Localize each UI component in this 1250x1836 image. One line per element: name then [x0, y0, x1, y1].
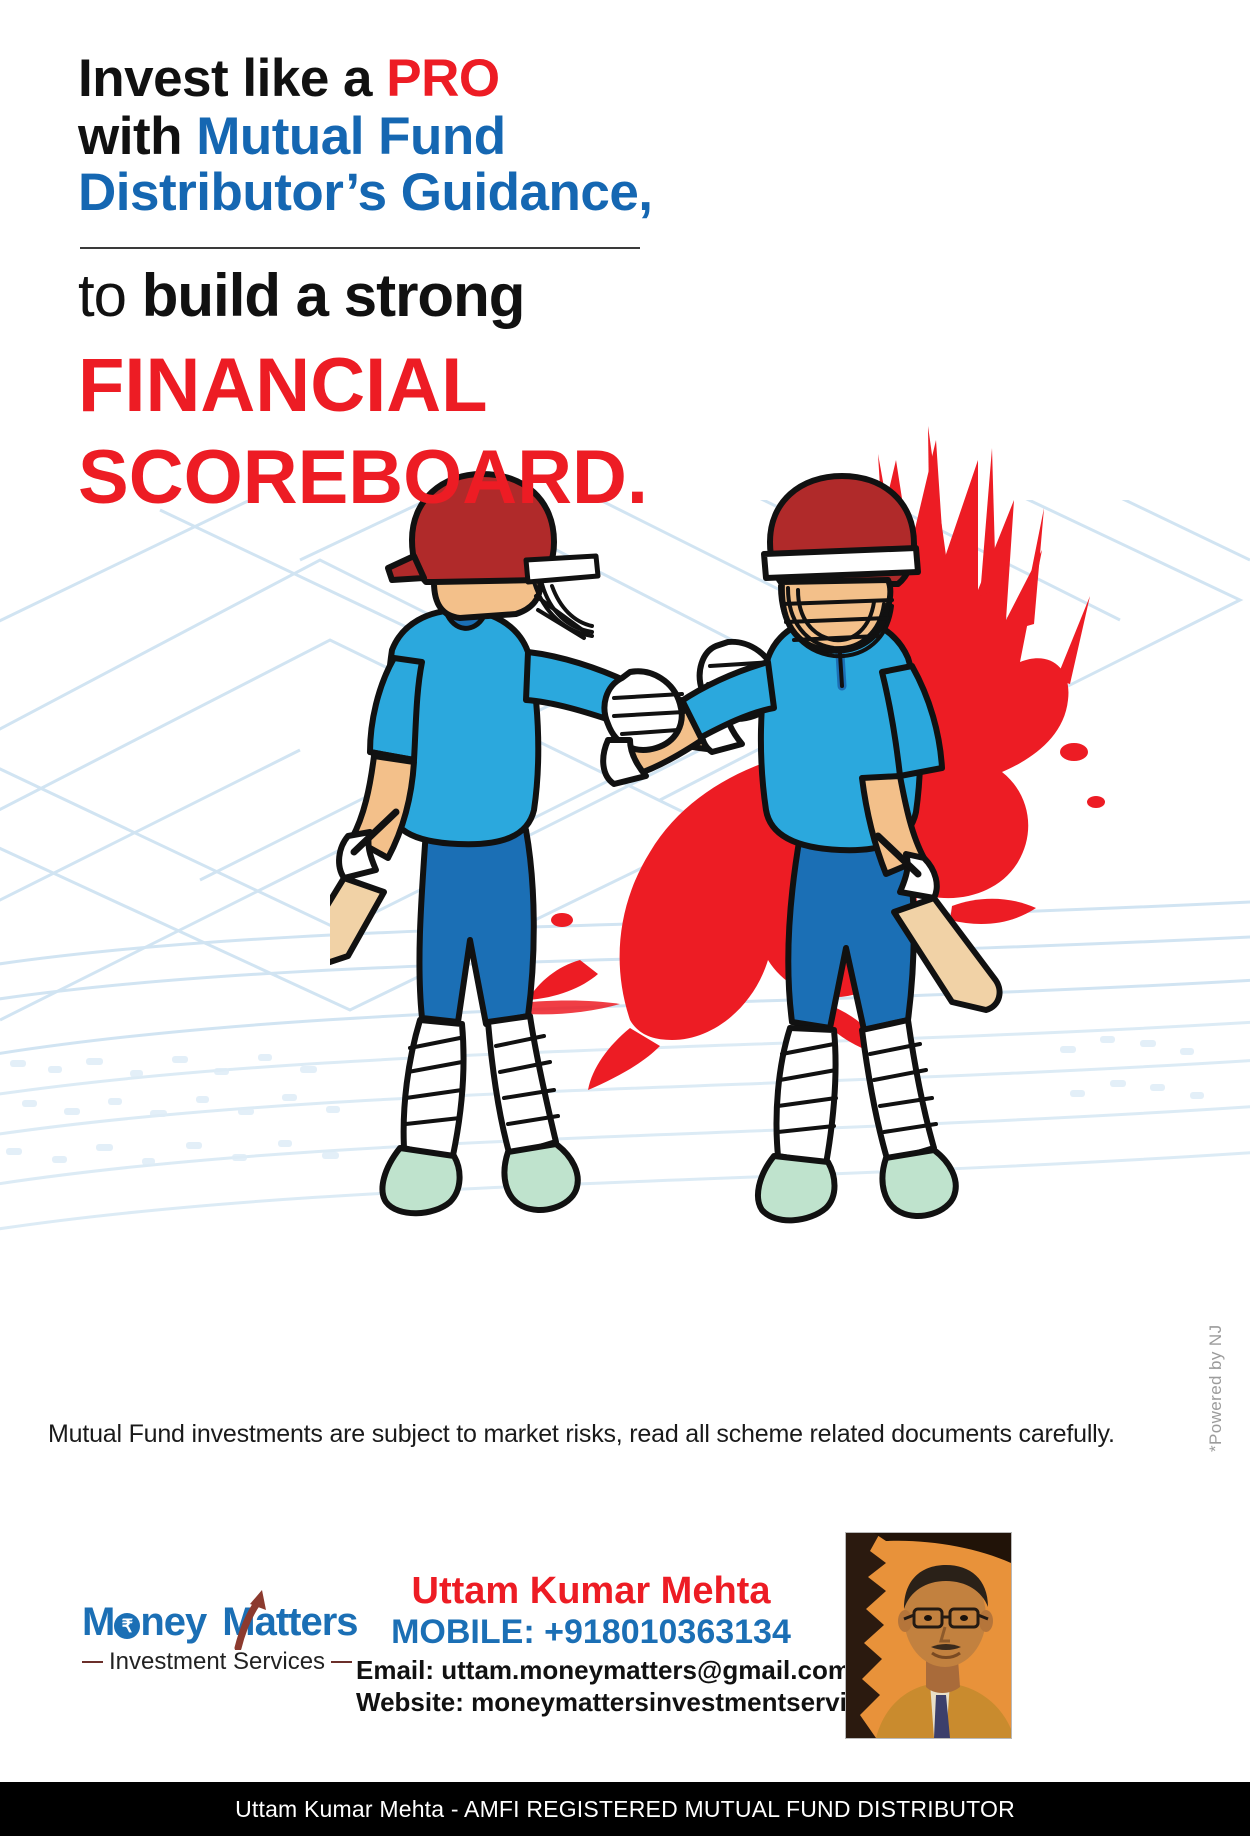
headline-line-2-plain: with: [78, 107, 196, 166]
logo-subtitle-row: Investment Services: [82, 1648, 352, 1676]
logo-word-m: M: [82, 1600, 114, 1645]
poster-canvas: Invest like a PRO with Mutual Fund Distr…: [0, 0, 1250, 1836]
advisor-website[interactable]: Website: moneymattersinvestmentservices.…: [356, 1688, 826, 1718]
logo-word-oney: ney: [140, 1600, 206, 1645]
website-label: Website:: [356, 1687, 464, 1717]
headline-line-4-emphasis: build a strong: [142, 262, 525, 329]
headline-line-1: Invest like a PRO: [78, 52, 778, 106]
headline-divider-rule: [80, 247, 640, 249]
headline-line-6-scoreboard: SCOREBOARD.: [78, 440, 648, 516]
advisor-mobile[interactable]: MOBILE: +918010363134: [356, 1614, 826, 1651]
advisor-portrait-photo: [845, 1532, 1012, 1739]
headline-line-1-emphasis: PRO: [386, 49, 499, 108]
headline-line-5-financial: FINANCIAL: [78, 348, 488, 424]
shoes-right: [758, 1150, 956, 1220]
email-label: Email:: [356, 1655, 434, 1685]
headline-line-1-plain: Invest like a: [78, 49, 386, 108]
footer-bar-text: Uttam Kumar Mehta - AMFI REGISTERED MUTU…: [235, 1796, 1015, 1823]
logo-dash-left: [82, 1661, 103, 1663]
advisor-name: Uttam Kumar Mehta: [356, 1572, 826, 1612]
powered-by-label: *Powered by NJ: [1206, 1452, 1250, 1472]
headline-block: Invest like a PRO with Mutual Fund Distr…: [78, 52, 778, 226]
mobile-number[interactable]: +918010363134: [544, 1613, 791, 1651]
headline-line-2-emphasis: Mutual Fund: [196, 107, 505, 166]
disclaimer-text: Mutual Fund investments are subject to m…: [48, 1420, 1208, 1449]
mobile-label: MOBILE:: [391, 1613, 535, 1651]
shoes-left: [382, 1144, 577, 1213]
portrait-illustration: [846, 1533, 1011, 1738]
logo-dash-right: [331, 1661, 352, 1663]
footer-bar: Uttam Kumar Mehta - AMFI REGISTERED MUTU…: [0, 1782, 1250, 1836]
headline-line-2: with Mutual Fund: [78, 110, 778, 164]
rupee-icon: ₹: [114, 1613, 140, 1639]
headline-line-3: Distributor’s Guidance,: [78, 166, 778, 220]
cricketers-celebration-illustration: [330, 400, 1120, 1230]
powered-by-text: *Powered by NJ: [1206, 1325, 1226, 1453]
footer-contact-block: M₹neyMatters Investment Services Uttam K…: [0, 1520, 1250, 1770]
advisor-email[interactable]: Email: uttam.moneymatters@gmail.com: [356, 1656, 826, 1686]
headline-line-4: to build a strong: [78, 265, 524, 326]
logo-subtitle: Investment Services: [109, 1648, 325, 1676]
upward-arrow-icon: [232, 1588, 268, 1650]
email-value[interactable]: uttam.moneymatters@gmail.com: [441, 1655, 851, 1685]
money-matters-logo: M₹neyMatters Investment Services: [82, 1600, 352, 1680]
logo-wordmark: M₹neyMatters: [82, 1600, 352, 1646]
contact-details: Uttam Kumar Mehta MOBILE: +918010363134 …: [356, 1572, 826, 1718]
headline-line-4-plain: to: [78, 262, 142, 329]
